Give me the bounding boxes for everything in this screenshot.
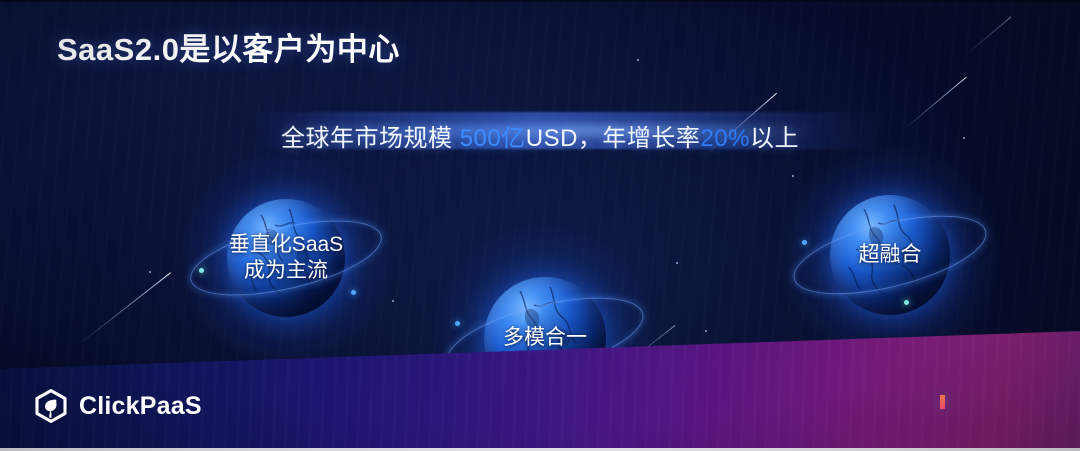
globe-label-line-1: 垂直化SaaS (229, 232, 343, 258)
subtitle-middle: USD，年增长率 (526, 125, 701, 152)
subtitle: 全球年市场规模 500亿USD，年增长率20%以上 (0, 118, 1080, 153)
orbit-node (904, 300, 909, 305)
orbit-node (802, 240, 807, 245)
globe-label: 多模合一 (503, 325, 587, 351)
globe-label-line-1: 多模合一 (503, 325, 587, 351)
globe-label: 垂直化SaaS 成为主流 (229, 232, 343, 285)
slide-top-edge (0, 0, 1080, 2)
brand-name: ClickPaaS (79, 392, 202, 421)
orbit-node (351, 290, 356, 295)
subtitle-highlight-growth-rate: 20% (700, 125, 750, 152)
star-dot (792, 175, 794, 177)
star-dot (676, 262, 678, 264)
page-title: SaaS2.0是以客户为中心 (57, 24, 400, 69)
shooting-star-streak (965, 17, 1012, 56)
change-wordmark: CHANGE (914, 388, 1056, 429)
brand-logo[interactable]: ClickPaaS (34, 389, 202, 423)
globe-label-line-2: 成为主流 (229, 258, 343, 284)
star-dot (637, 59, 639, 61)
orbit-node (199, 268, 204, 273)
globe-label-line-1: 超融合 (859, 242, 922, 268)
star-dot (705, 330, 707, 332)
star-dot (392, 300, 394, 302)
star-dot (149, 271, 151, 273)
subtitle-highlight-market-size: 500亿 (460, 125, 526, 152)
globe-label: 超融合 (859, 242, 922, 268)
change-wordmark-text: CHANGE (914, 388, 1056, 429)
shooting-star-streak (80, 272, 171, 344)
presentation-slide: SaaS2.0是以客户为中心 全球年市场规模 500亿USD，年增长率20%以上 (0, 0, 1080, 451)
subtitle-prefix: 全球年市场规模 (281, 125, 460, 152)
subtitle-suffix: 以上 (750, 125, 799, 152)
orbit-node (455, 321, 460, 326)
hexagon-leaf-logo-icon (34, 389, 68, 423)
